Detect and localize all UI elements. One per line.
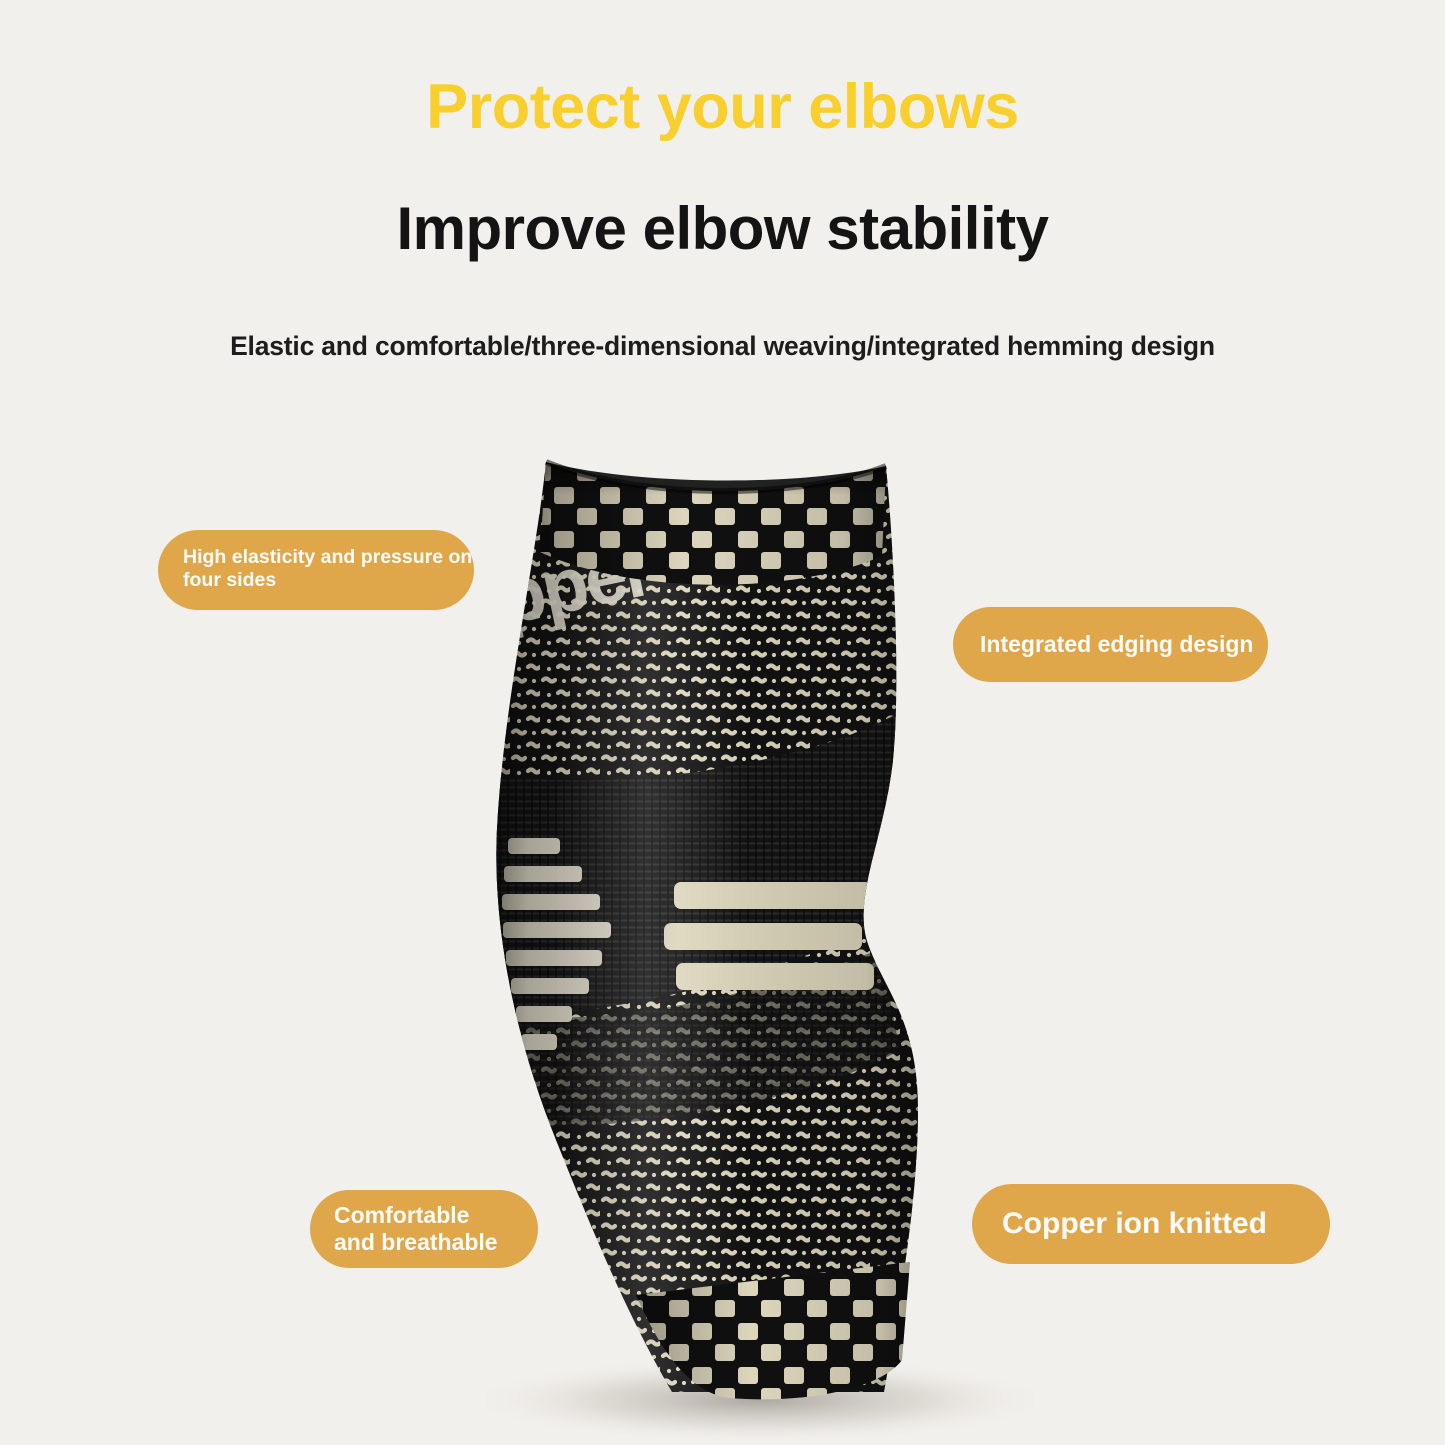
tagline: Elastic and comfortable/three-dimensiona… bbox=[0, 331, 1445, 362]
callout-line-1: High elasticity and pressure on bbox=[183, 546, 472, 569]
sleeve-body: pper bbox=[460, 420, 980, 1430]
detail-bars bbox=[664, 882, 874, 990]
callout-copper-ion-knitted: Copper ion knitted bbox=[972, 1184, 1330, 1264]
callout-high-elasticity: High elasticity and pressure on four sid… bbox=[158, 530, 474, 610]
callout-line-2: four sides bbox=[183, 569, 472, 592]
product-shadow bbox=[460, 1356, 1060, 1444]
callout-integrated-edging: Integrated edging design bbox=[953, 607, 1268, 682]
left-stripes bbox=[502, 838, 611, 1050]
callout-line-1: Integrated edging design bbox=[980, 631, 1253, 658]
bottom-cuff bbox=[600, 1240, 960, 1420]
product-banner: pper Protect your elbows Improve elbow s… bbox=[0, 0, 1445, 1445]
callout-line-1: Comfortable bbox=[334, 1202, 498, 1229]
headline: Protect your elbows bbox=[0, 74, 1445, 140]
brand-wordmark: pper bbox=[491, 526, 660, 641]
subheadline: Improve elbow stability bbox=[0, 197, 1445, 260]
callout-line-2: and breathable bbox=[334, 1229, 498, 1256]
callout-line-1: Copper ion knitted bbox=[1002, 1206, 1267, 1241]
top-cuff bbox=[500, 420, 940, 610]
callout-comfortable-breathable: Comfortable and breathable bbox=[310, 1190, 538, 1268]
top-rim bbox=[546, 462, 886, 491]
